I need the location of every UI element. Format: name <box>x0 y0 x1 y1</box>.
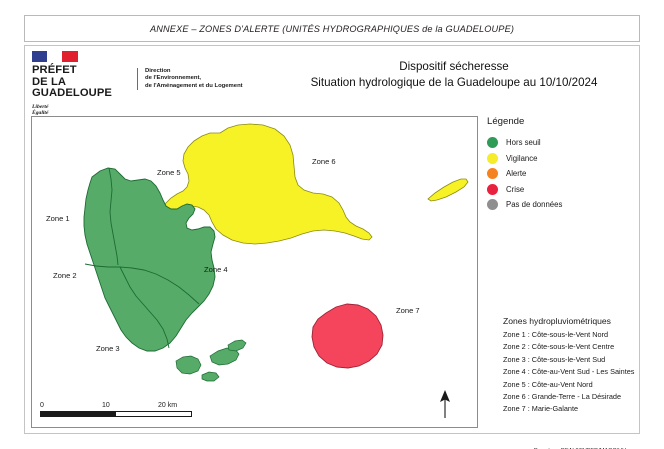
map-label-zone-3: Zone 3 <box>96 344 120 353</box>
scale-label-end: 20 km <box>158 402 177 409</box>
zone-entry-2: Zone 2 : Côte-sous-le-Vent Centre <box>503 341 664 353</box>
legend-panel: Légende Hors seuil Vigilance Alerte Cris… <box>487 116 635 213</box>
guadeloupe-map-svg <box>32 117 478 428</box>
prefecture-line-3: GUADELOUPE <box>32 88 150 100</box>
map-label-zone-6: Zone 6 <box>312 157 336 166</box>
legend-dot-pas-de-donnees <box>487 199 498 210</box>
legend-label-hors-seuil: Hors seuil <box>506 138 541 147</box>
map-label-zone-2: Zone 2 <box>53 271 77 280</box>
scale-bar: 0 10 20 km <box>40 402 192 417</box>
title-line-2: Situation hydrologique de la Guadeloupe … <box>275 75 633 91</box>
legend-item-hors-seuil[interactable]: Hors seuil <box>487 135 635 151</box>
title-line-1: Dispositif sécheresse <box>275 59 633 75</box>
deal-line-3: de l'Aménagement et du Logement <box>145 83 243 90</box>
map-label-zone-5: Zone 5 <box>157 168 181 177</box>
map-frame: Zone 1 Zone 2 Zone 3 Zone 4 Zone 5 Zone … <box>31 116 478 428</box>
scale-label-start: 0 <box>40 402 44 409</box>
legend-dot-alerte <box>487 168 498 179</box>
map-region-les-saintes[interactable] <box>176 340 246 381</box>
legend-item-alerte[interactable]: Alerte <box>487 166 635 182</box>
deal-service-block: Direction de l'Environnement, de l'Aména… <box>137 68 243 90</box>
map-page: ANNEXE – ZONES D'ALERTE (UNITÉS HYDROGRA… <box>0 0 664 449</box>
legend-item-pas-de-donnees[interactable]: Pas de données <box>487 197 635 213</box>
map-label-zone-4: Zone 4 <box>204 265 228 274</box>
zones-list-title: Zones hydropluviométriques <box>503 316 664 326</box>
map-sheet: PRÉFET DE LA GUADELOUPE Liberté Égalité … <box>24 45 640 434</box>
legend-title: Légende <box>487 116 635 127</box>
zone-entry-1: Zone 1 : Côte-sous-le-Vent Nord <box>503 329 664 341</box>
legend-label-pas-de-donnees: Pas de données <box>506 200 562 209</box>
zone-entry-7: Zone 7 : Marie-Galante <box>503 403 664 415</box>
annexe-title: ANNEXE – ZONES D'ALERTE (UNITÉS HYDROGRA… <box>150 24 514 34</box>
zone-entry-6: Zone 6 : Grande-Terre - La Désirade <box>503 391 664 403</box>
zones-list-panel: Zones hydropluviométriques Zone 1 : Côte… <box>503 316 664 416</box>
legend-label-crise: Crise <box>506 185 524 194</box>
legend-dot-vigilance <box>487 153 498 164</box>
map-label-zone-7: Zone 7 <box>396 306 420 315</box>
legend-item-crise[interactable]: Crise <box>487 182 635 198</box>
prefecture-line-1: PRÉFET <box>32 65 150 77</box>
legend-dot-hors-seuil <box>487 137 498 148</box>
zone-entry-5: Zone 5 : Côte-au-Vent Nord <box>503 379 664 391</box>
legend-label-vigilance: Vigilance <box>506 154 538 163</box>
map-region-marie-galante[interactable] <box>312 304 383 368</box>
annexe-banner: ANNEXE – ZONES D'ALERTE (UNITÉS HYDROGRA… <box>24 15 640 42</box>
legend-dot-crise <box>487 184 498 195</box>
map-region-la-desirade[interactable] <box>428 179 468 201</box>
page-title: Dispositif sécheresse Situation hydrolog… <box>275 59 633 91</box>
map-label-zone-1: Zone 1 <box>46 214 70 223</box>
zone-entry-4: Zone 4 : Côte-au-Vent Sud - Les Saintes <box>503 366 664 378</box>
legend-item-vigilance[interactable]: Vigilance <box>487 151 635 167</box>
deal-line-2: de l'Environnement, <box>145 75 243 82</box>
deal-line-1: Direction <box>145 68 243 75</box>
scale-label-mid: 10 <box>102 402 110 409</box>
prefecture-logo-block: PRÉFET DE LA GUADELOUPE Liberté Égalité … <box>32 51 150 123</box>
french-flag-icon <box>32 51 78 62</box>
map-region-grande-terre[interactable] <box>163 124 372 244</box>
legend-label-alerte: Alerte <box>506 169 526 178</box>
prefecture-name: PRÉFET DE LA GUADELOUPE <box>32 65 150 100</box>
scale-bar-graphic <box>40 411 192 417</box>
zone-entry-3: Zone 3 : Côte-sous-le-Vent Sud <box>503 354 664 366</box>
north-arrow-icon <box>437 389 453 419</box>
